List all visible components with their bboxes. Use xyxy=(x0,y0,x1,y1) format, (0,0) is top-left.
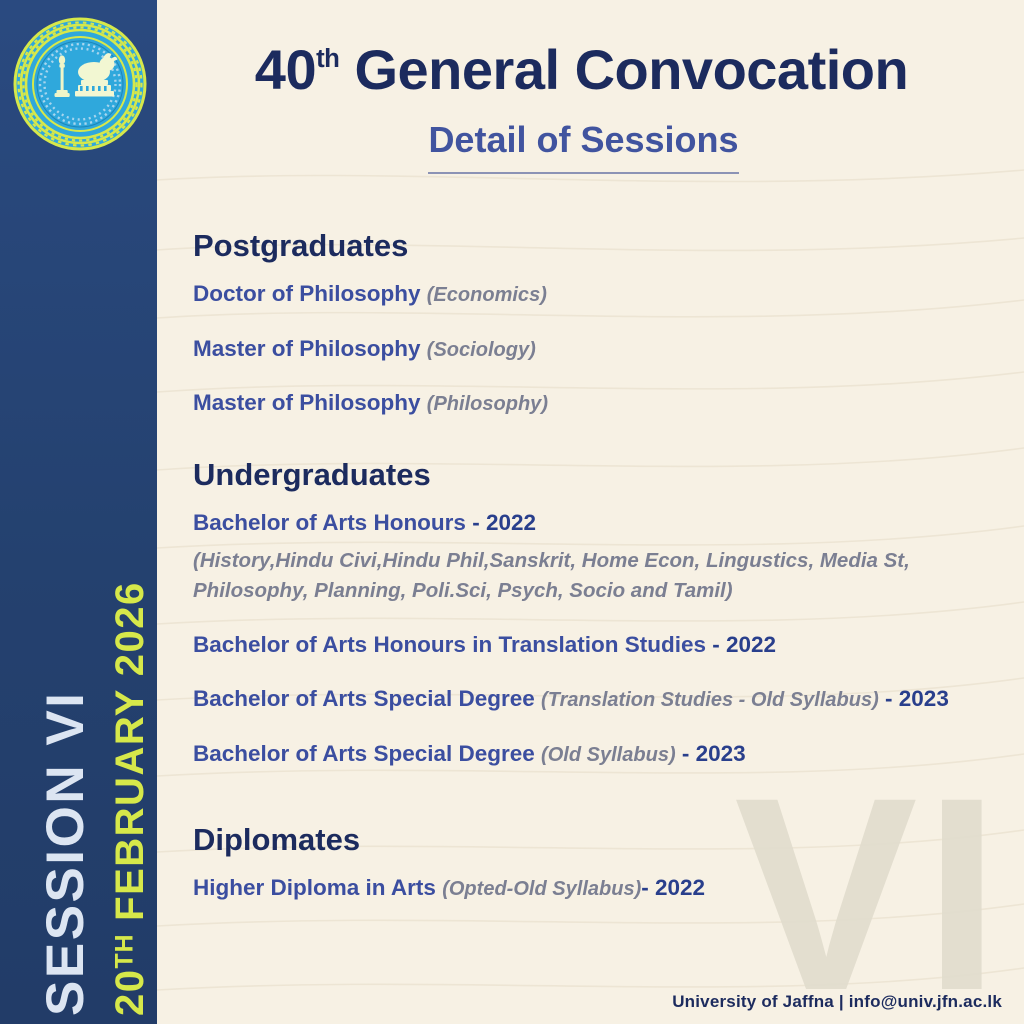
entry-ba-special-old-2023: Bachelor of Arts Special Degree (Old Syl… xyxy=(193,741,1004,768)
entry-year: - 2022 xyxy=(712,632,776,657)
entry-degree: Bachelor of Arts Honours in Translation … xyxy=(193,632,712,657)
entry-paren: (Translation Studies - Old Syllabus) xyxy=(541,689,879,711)
convocation-poster: VI xyxy=(0,0,1024,1024)
title-number: 40 xyxy=(255,38,316,101)
entry-mphil-sociology: Master of Philosophy (Sociology) xyxy=(193,336,1004,363)
entry-degree: Bachelor of Arts Special Degree xyxy=(193,741,541,766)
entry-degree: Master of Philosophy xyxy=(193,336,427,361)
entry-paren: (Economics) xyxy=(427,284,547,306)
undergraduate-subject-list: (History,Hindu Civi,Hindu Phil,Sanskrit,… xyxy=(193,546,1004,605)
entry-year: - 2023 xyxy=(879,686,949,711)
entry-paren: (Philosophy) xyxy=(427,393,548,415)
entry-degree: Doctor of Philosophy xyxy=(193,281,427,306)
page-subtitle: Detail of Sessions xyxy=(428,122,738,158)
page-title: 40th General Convocation xyxy=(157,42,1024,98)
section-postgraduates: Postgraduates Doctor of Philosophy (Econ… xyxy=(193,230,1004,417)
subtitle-divider xyxy=(428,172,738,174)
entry-higher-diploma-arts-2022: Higher Diploma in Arts (Opted-Old Syllab… xyxy=(193,875,1004,902)
section-heading-diplomates: Diplomates xyxy=(193,824,1004,855)
entry-degree: Bachelor of Arts Special Degree xyxy=(193,686,541,711)
entry-year: - 2022 xyxy=(472,510,536,535)
footer-contact: University of Jaffna | info@univ.jfn.ac.… xyxy=(672,992,1002,1012)
entry-year: - 2022 xyxy=(641,875,705,900)
title-ordinal-suffix: th xyxy=(316,45,339,73)
title-rest: General Convocation xyxy=(339,38,908,101)
entry-paren: (Opted-Old Syllabus) xyxy=(442,878,641,900)
date-suffix: TH xyxy=(112,933,139,968)
spacer xyxy=(193,796,1004,824)
entry-ba-special-translation-2023: Bachelor of Arts Special Degree (Transla… xyxy=(193,686,1004,713)
date-day: 20 xyxy=(108,969,152,1017)
entry-year: - 2023 xyxy=(676,741,746,766)
sidebar: SESSION VI 20TH FEBRUARY 2026 xyxy=(0,0,157,1024)
date-rest: FEBRUARY 2026 xyxy=(108,581,152,933)
entry-degree: Higher Diploma in Arts xyxy=(193,875,442,900)
subtitle-block: Detail of Sessions xyxy=(428,122,752,174)
entry-ba-honours-translation-2022: Bachelor of Arts Honours in Translation … xyxy=(193,632,1004,659)
sidebar-vertical-text: SESSION VI 20TH FEBRUARY 2026 xyxy=(0,546,157,1016)
section-heading-postgraduates: Postgraduates xyxy=(193,230,1004,261)
poster-header: 40th General Convocation Detail of Sessi… xyxy=(157,0,1024,174)
entry-ba-honours-2022: Bachelor of Arts Honours - 2022 xyxy=(193,510,1004,537)
section-diplomates: Diplomates Higher Diploma in Arts (Opted… xyxy=(193,824,1004,902)
entry-phd-economics: Doctor of Philosophy (Economics) xyxy=(193,281,1004,308)
entry-degree: Master of Philosophy xyxy=(193,390,427,415)
entry-mphil-philosophy: Master of Philosophy (Philosophy) xyxy=(193,390,1004,417)
session-label: SESSION VI xyxy=(39,691,92,1016)
main-content: 40th General Convocation Detail of Sessi… xyxy=(157,0,1024,1024)
university-crest-logo xyxy=(10,14,150,154)
entry-paren: (Sociology) xyxy=(427,339,536,361)
sessions-body: Postgraduates Doctor of Philosophy (Econ… xyxy=(157,230,1024,901)
entry-paren: (Old Syllabus) xyxy=(541,744,676,766)
section-undergraduates: Undergraduates Bachelor of Arts Honours … xyxy=(193,459,1004,768)
date-label: 20TH FEBRUARY 2026 xyxy=(110,581,150,1016)
entry-degree: Bachelor of Arts Honours xyxy=(193,510,472,535)
section-heading-undergraduates: Undergraduates xyxy=(193,459,1004,490)
